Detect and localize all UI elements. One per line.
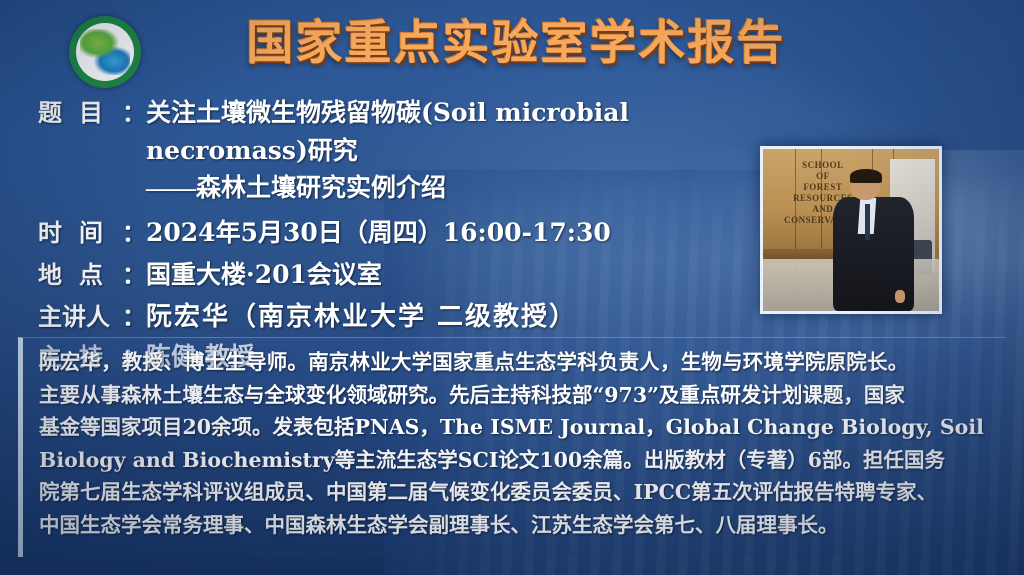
bio-line-4: Biology and Biochemistry等主流生态学SCI论文100余篇… <box>39 444 1000 477</box>
event-info-block: 题 目 ： 关注土壤微生物残留物碳(Soil microbial necroma… <box>38 94 758 376</box>
time-value: 2024年5月30日（周四）16:00-17:30 <box>146 214 758 252</box>
seminar-poster: 国家重点实验室学术报告 题 目 ： 关注土壤微生物残留物碳(Soil micro… <box>0 0 1024 575</box>
poster-header: 国家重点实验室学术报告 <box>0 0 1024 92</box>
state-key-laboratory-emblem-icon <box>69 16 141 88</box>
bio-line-6: 中国生态学会常务理事、中国森林生态学会副理事长、江苏生态学会第七、八届理事长。 <box>39 509 1000 542</box>
info-row-location: 地 点 ： 国重大楼·201会议室 <box>38 256 758 294</box>
topic-value: 关注土壤微生物残留物碳(Soil microbial necromass)研究 <box>146 94 758 170</box>
speaker-label: 主讲人 ： <box>38 298 146 336</box>
bio-line-5: 院第七届生态学科评议组成员、中国第二届气候变化委员会委员、IPCC第五次评估报告… <box>39 476 1000 509</box>
time-label: 时 间 ： <box>38 214 146 252</box>
speaker-value: 阮宏华（南京林业大学 二级教授） <box>146 298 758 336</box>
info-row-speaker: 主讲人 ： 阮宏华（南京林业大学 二级教授） <box>38 298 758 336</box>
speaker-photo: SCHOOL OF FOREST RESOURCES AND CONSERVAT… <box>760 146 942 314</box>
info-row-topic: 题 目 ： 关注土壤微生物残留物碳(Soil microbial necroma… <box>38 94 758 170</box>
location-label: 地 点 ： <box>38 256 146 294</box>
speaker-bio-panel: 阮宏华，教授、博士生导师。南京林业大学国家重点生态学科负责人，生物与环境学院原院… <box>18 337 1006 557</box>
bio-line-1: 阮宏华，教授、博士生导师。南京林业大学国家重点生态学科负责人，生物与环境学院原院… <box>39 346 1000 379</box>
page-title: 国家重点实验室学术报告 <box>196 16 836 72</box>
info-row-time: 时 间 ： 2024年5月30日（周四）16:00-17:30 <box>38 214 758 252</box>
bio-line-2: 主要从事森林土壤生态与全球变化领域研究。先后主持科技部“973”及重点研发计划课… <box>39 379 1000 412</box>
topic-label: 题 目 ： <box>38 94 146 132</box>
location-value: 国重大楼·201会议室 <box>146 256 758 294</box>
speaker-figure <box>833 172 914 311</box>
bio-line-3: 基金等国家项目20余项。发表包括PNAS，The ISME Journal，Gl… <box>39 411 1000 444</box>
topic-subtitle: ——森林土壤研究实例介绍 <box>146 170 758 208</box>
